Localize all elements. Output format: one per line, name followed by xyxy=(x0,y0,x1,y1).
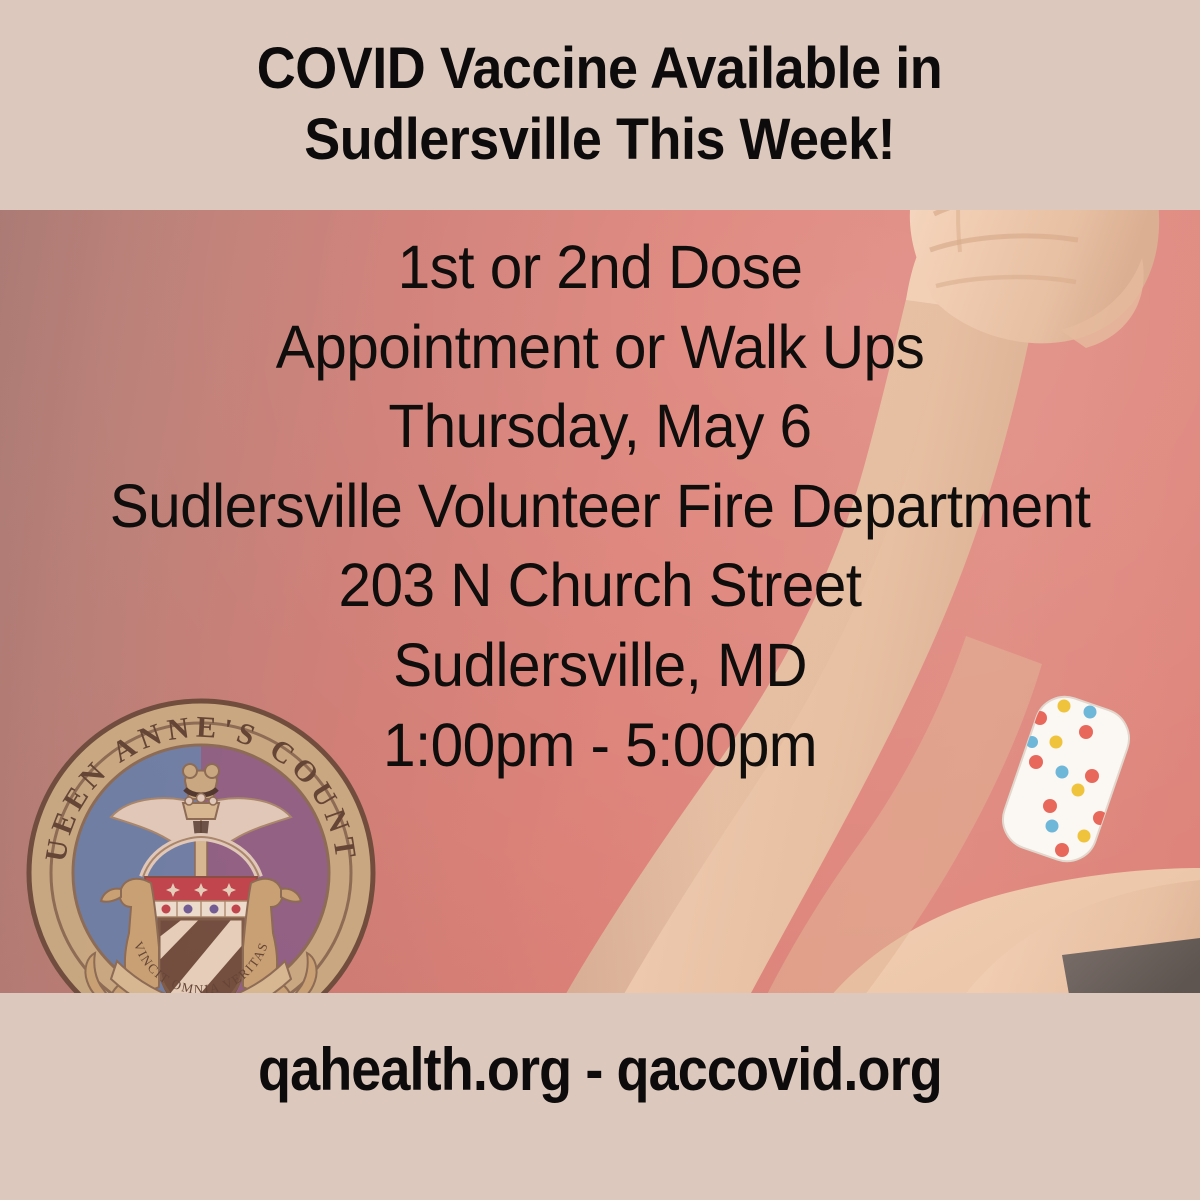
detail-address: 203 N Church Street xyxy=(24,546,1176,626)
detail-city-state: Sudlersville, MD xyxy=(24,626,1176,706)
detail-dose: 1st or 2nd Dose xyxy=(24,228,1176,308)
poster-root: 1st or 2nd Dose Appointment or Walk Ups … xyxy=(0,0,1200,1200)
footer-websites[interactable]: qahealth.org - qaccovid.org xyxy=(258,1035,942,1104)
title-line-2: Sudlersville This Week! xyxy=(305,105,896,176)
detail-access: Appointment or Walk Ups xyxy=(24,308,1176,388)
detail-venue: Sudlersville Volunteer Fire Department xyxy=(24,467,1176,547)
footer-band: qahealth.org - qaccovid.org xyxy=(0,993,1200,1200)
detail-date: Thursday, May 6 xyxy=(24,387,1176,467)
event-details-block: 1st or 2nd Dose Appointment or Walk Ups … xyxy=(0,228,1200,785)
crest-column xyxy=(195,837,207,881)
title-line-1: COVID Vaccine Available in xyxy=(257,34,942,105)
header-band: COVID Vaccine Available in Sudlersville … xyxy=(0,0,1200,210)
detail-hours: 1:00pm - 5:00pm xyxy=(24,706,1176,786)
